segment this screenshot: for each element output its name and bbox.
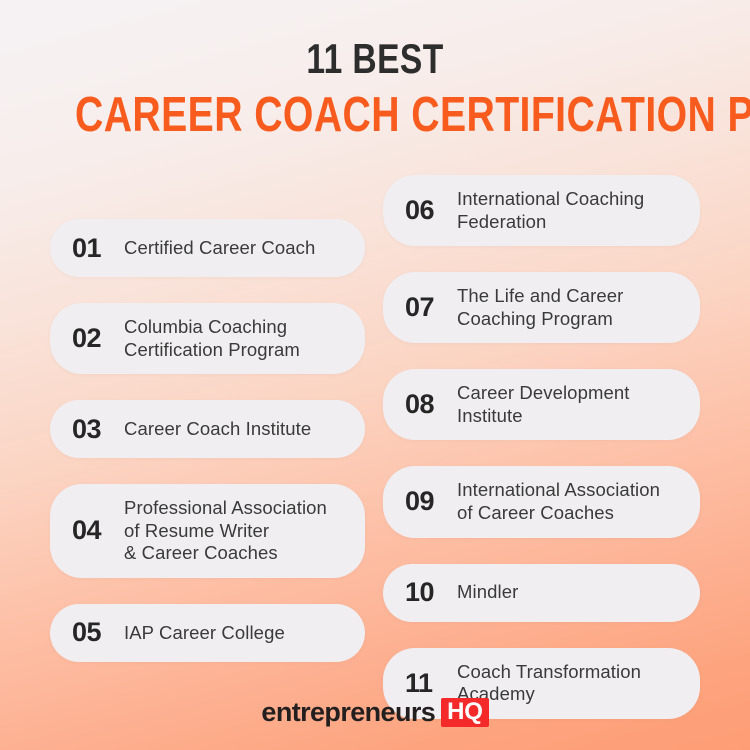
list-item-label: International Association of Career Coac… [457,479,682,524]
list-item-number: 11 [405,670,457,697]
infographic-poster: 11 BEST CAREER COACH CERTIFICATION PROGR… [0,0,750,750]
list-item-number: 02 [72,325,124,352]
list-item[interactable]: 01Certified Career Coach [50,219,365,277]
list-item-label: Mindler [457,581,682,604]
list-item[interactable]: 05IAP Career College [50,604,365,662]
list-item-label: Certified Career Coach [124,237,347,260]
logo-wordmark: entrepreneurs [261,697,435,728]
list-item[interactable]: 04Professional Association of Resume Wri… [50,484,365,578]
list-item[interactable]: 07The Life and Career Coaching Program [383,272,700,343]
list-column-right: 06International Coaching Federation07The… [383,175,700,745]
list-item-label: Career Development Institute [457,382,682,427]
list-item-number: 10 [405,579,457,606]
list-item[interactable]: 09International Association of Career Co… [383,466,700,537]
list-columns: 01Certified Career Coach02Columbia Coach… [0,0,750,750]
list-item-number: 07 [405,294,457,321]
list-item-number: 08 [405,391,457,418]
logo-hq-badge: HQ [441,698,488,727]
list-item-label: The Life and Career Coaching Program [457,285,682,330]
list-item-number: 09 [405,488,457,515]
list-item[interactable]: 02Columbia Coaching Certification Progra… [50,303,365,374]
list-item-label: International Coaching Federation [457,188,682,233]
list-item-number: 05 [72,619,124,646]
list-item[interactable]: 10Mindler [383,564,700,622]
list-item-label: Career Coach Institute [124,418,347,441]
list-item[interactable]: 08Career Development Institute [383,369,700,440]
list-item-number: 01 [72,235,124,262]
list-item-label: IAP Career College [124,622,347,645]
brand-logo: entrepreneurs HQ [0,697,750,728]
list-item[interactable]: 06International Coaching Federation [383,175,700,246]
list-item-number: 06 [405,197,457,224]
list-item-label: Columbia Coaching Certification Program [124,316,347,361]
list-item-number: 04 [72,517,124,544]
list-column-left: 01Certified Career Coach02Columbia Coach… [50,219,365,688]
list-item[interactable]: 03Career Coach Institute [50,400,365,458]
list-item-number: 03 [72,416,124,443]
list-item-label: Professional Association of Resume Write… [124,497,347,565]
